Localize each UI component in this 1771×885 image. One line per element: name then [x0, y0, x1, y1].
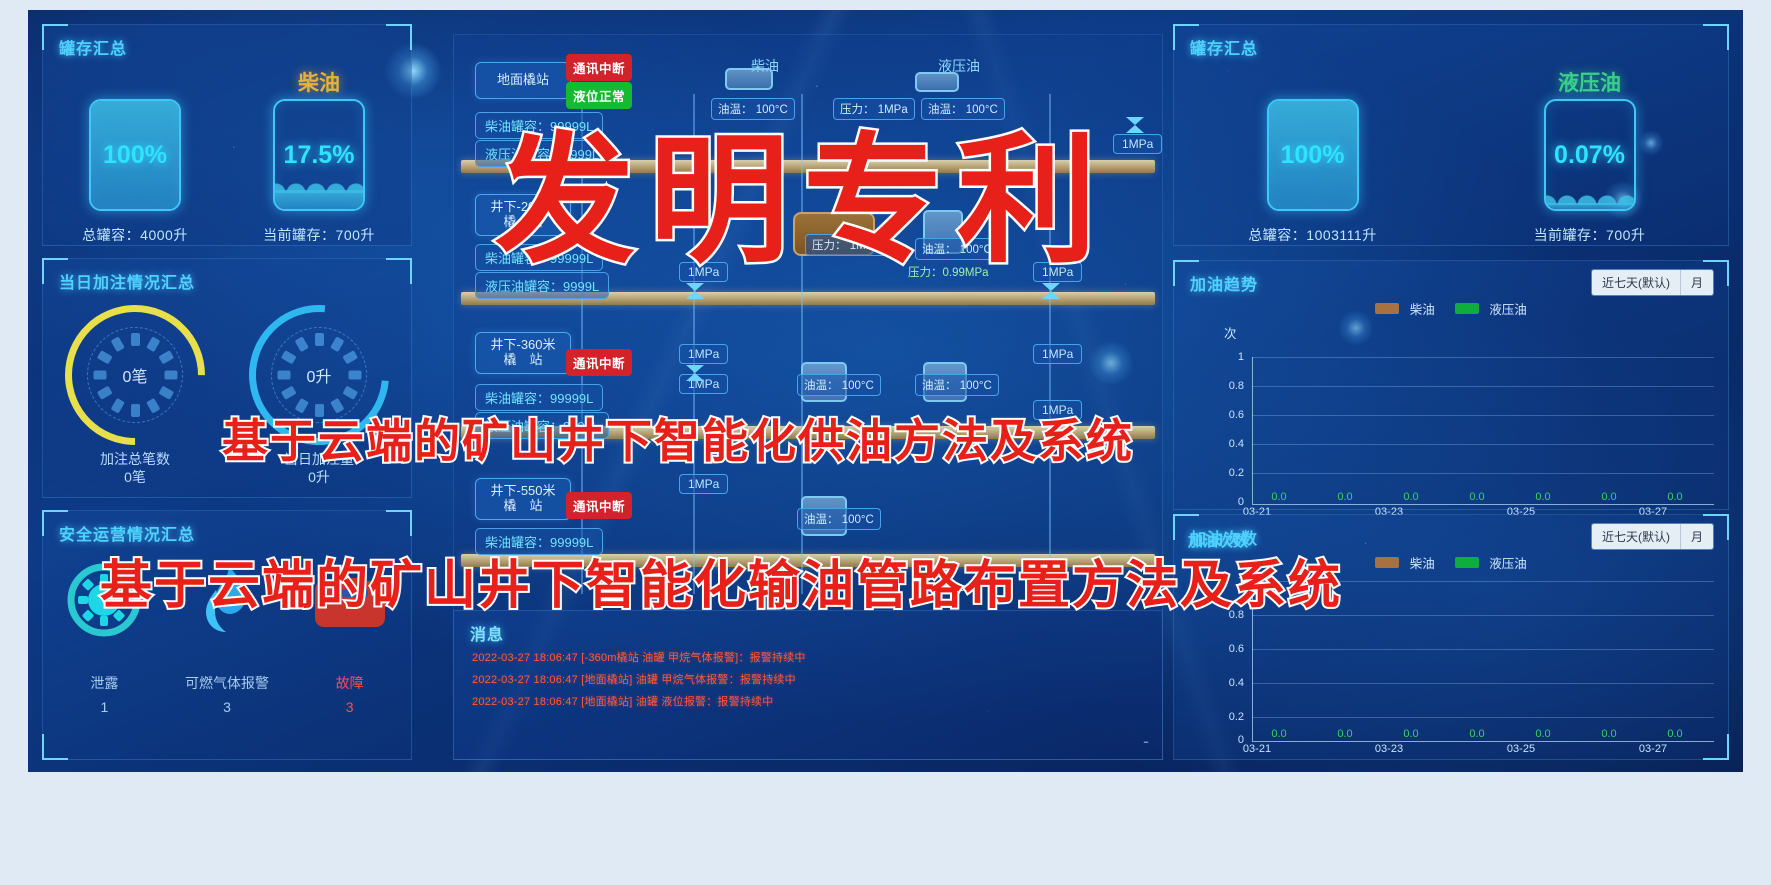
data-label: 0.0 — [1332, 491, 1358, 503]
grid-line — [1252, 717, 1714, 718]
ring-gauge-yellow: 0笔 — [65, 305, 205, 445]
gauge-value: 0笔 — [65, 305, 205, 445]
data-label: 0.0 — [1596, 491, 1622, 503]
tank-total-capacity: 100% 总罐容：4000升 — [43, 67, 227, 245]
x-tick-label: 03-21 — [1234, 743, 1280, 755]
corner-decor — [386, 510, 412, 536]
tank-current-caption: 当前罐存：700升 — [263, 225, 375, 245]
safety-label: 泄露 — [90, 673, 118, 693]
tank-current-value: 0.07% — [1546, 101, 1634, 209]
panel-title: 安全运营情况汇总 — [59, 521, 195, 545]
tank-gauges-row: 100% 总罐容：1003111升 液压油 0.07% 当前罐存：700升 — [1174, 67, 1728, 245]
tank-visual-current: 17.5% — [273, 99, 365, 211]
station-label-line2: 橇 站 — [486, 499, 560, 514]
data-label: 0.0 — [1266, 728, 1292, 740]
y-tick-label: 0.4 — [1218, 677, 1244, 689]
grid-line — [1252, 357, 1714, 358]
y-tick-label: 1 — [1218, 351, 1244, 363]
safety-count: 1 — [100, 699, 108, 715]
pressure-tag: 1MPa — [679, 344, 728, 364]
data-label: 0.0 — [1464, 491, 1490, 503]
tank-total-caption: 总罐容：4000升 — [82, 225, 188, 245]
data-label: 0.0 — [1398, 728, 1424, 740]
tank-current-value: 17.5% — [275, 101, 363, 209]
data-label: 0.0 — [1332, 728, 1358, 740]
chart-plot-area: 次 1 0.8 0.6 0.4 0.2 0 0.0 0.0 0.0 0.0 0.… — [1174, 261, 1730, 511]
panel-right-tank-summary: 罐存汇总 100% 总罐容：1003111升 液压油 0.07% 当前罐存：70… — [1173, 24, 1729, 246]
overlay-patent-badge: 发明专利 — [495, 88, 1111, 290]
safety-label: 可燃气体报警 — [185, 673, 269, 693]
tank-current-stock: 液压油 0.07% 当前罐存：700升 — [1451, 67, 1728, 245]
tank-head-spacer — [132, 67, 138, 93]
panel-title: 消息 — [470, 621, 504, 645]
grid-line — [1252, 683, 1714, 684]
grid-line — [1252, 415, 1714, 416]
data-label: 0.0 — [1596, 728, 1622, 740]
gauge-total-count: 0笔 加注总笔数 0笔 — [43, 305, 227, 486]
tank-head-spacer — [1310, 67, 1316, 93]
valve-icon[interactable] — [1125, 116, 1145, 139]
x-tick-label: 03-27 — [1630, 743, 1676, 755]
tank-icon-surface-diesel — [725, 68, 773, 90]
data-label: 0.0 — [1464, 728, 1490, 740]
tank-total-capacity: 100% 总罐容：1003111升 — [1174, 67, 1451, 245]
panel-title: 当日加注情况汇总 — [59, 269, 195, 293]
safety-label: 故障 — [336, 673, 364, 693]
safety-count: 3 — [346, 699, 354, 715]
gauge-caption-line1: 加注总笔数 — [100, 451, 170, 469]
tank-current-stock: 柴油 17.5% 当前罐存：700升 — [227, 67, 411, 245]
product-name-hydraulic: 液压油 — [1558, 67, 1621, 93]
y-axis-title: 次 — [1224, 323, 1237, 342]
panel-messages: 消息 2022-03-27 18:06:47 [-360m橇站 油罐 甲烷气体报… — [453, 610, 1163, 760]
station-label-line1: 井下-360米 — [486, 338, 560, 353]
tank-total-value: 100% — [91, 101, 179, 209]
data-label: 0.0 — [1530, 491, 1556, 503]
meter-tag-oil-temp: 油温： 100°C — [797, 508, 881, 530]
grid-line — [1252, 473, 1714, 474]
message-item[interactable]: 2022-03-27 18:06:47 [-360m橇站 油罐 甲烷气体报警]：… — [472, 647, 1148, 669]
data-label: 0.0 — [1662, 491, 1688, 503]
y-tick-label: 0.2 — [1218, 711, 1244, 723]
tank-total-caption: 总罐容：1003111升 — [1248, 225, 1376, 245]
pressure-tag: 1MPa — [1033, 344, 1082, 364]
corner-decor — [386, 258, 412, 284]
message-item[interactable]: 2022-03-27 18:06:47 [地面橇站] 油罐 液位报警：报警持续中 — [472, 691, 1148, 713]
pressure-tag: 1MPa — [679, 474, 728, 494]
y-tick-label: 0.6 — [1218, 643, 1244, 655]
y-tick-label: 0.2 — [1218, 467, 1244, 479]
corner-decor — [42, 734, 68, 760]
meter-tag-oil-temp: 油温： 100°C — [915, 374, 999, 396]
station-label-550m[interactable]: 井下-550米 橇 站 — [475, 478, 571, 520]
message-list: 2022-03-27 18:06:47 [-360m橇站 油罐 甲烷气体报警]：… — [472, 647, 1148, 713]
data-label: 0.0 — [1662, 728, 1688, 740]
y-tick-label: 0.4 — [1218, 438, 1244, 450]
y-tick-label: 0.8 — [1218, 380, 1244, 392]
x-tick-label: 03-25 — [1498, 743, 1544, 755]
valve-icon[interactable] — [685, 364, 705, 387]
tank-current-caption: 当前罐存：700升 — [1534, 225, 1646, 245]
corner-decor — [386, 24, 412, 50]
x-tick-label: 03-23 — [1366, 743, 1412, 755]
gauge-caption-line2: 0笔 — [100, 469, 170, 487]
station-label-line1: 井下-550米 — [486, 484, 560, 499]
panel-left-tank-summary: 罐存汇总 100% 总罐容：4000升 柴油 17.5% 当前罐存：700升 — [42, 24, 412, 246]
grid-line — [1252, 444, 1714, 445]
safety-count: 3 — [223, 699, 231, 715]
gauge-caption-line2: 0升 — [284, 469, 354, 487]
gauge-caption: 加注总笔数 0笔 — [100, 451, 170, 486]
corner-decor — [1703, 24, 1729, 50]
y-tick-label: 0.6 — [1218, 409, 1244, 421]
panel-title: 罐存汇总 — [1190, 35, 1258, 59]
tank-gauges-row: 100% 总罐容：4000升 柴油 17.5% 当前罐存：700升 — [43, 67, 411, 245]
station-label-360m[interactable]: 井下-360米 橇 站 — [475, 332, 571, 374]
x-axis-line — [1252, 504, 1714, 505]
message-item[interactable]: 2022-03-27 18:06:47 [地面橇站] 油罐 甲烷气体报警：报警持… — [472, 669, 1148, 691]
tank-total-value: 100% — [1269, 101, 1357, 209]
tank-visual-total: 100% — [1267, 99, 1359, 211]
panel-refuel-trend-chart: 加油趋势 近七天(默认) 月 柴油 液压油 次 1 0.8 0.6 0.4 0.… — [1173, 260, 1729, 510]
data-label: 0.0 — [1530, 728, 1556, 740]
meter-tag-oil-temp: 油温： 100°C — [797, 374, 881, 396]
grid-line — [1252, 649, 1714, 650]
status-badge-comm-fault: 通讯中断 — [566, 54, 632, 81]
panel-title: 罐存汇总 — [59, 35, 127, 59]
tank-visual-total: 100% — [89, 99, 181, 211]
tank-visual-current: 0.07% — [1544, 99, 1636, 211]
product-name-diesel: 柴油 — [298, 67, 340, 93]
status-badge-comm-fault: 通讯中断 — [566, 492, 632, 519]
data-label: 0.0 — [1398, 491, 1424, 503]
grid-line — [1252, 386, 1714, 387]
y-axis-line — [1252, 357, 1253, 504]
station-label-line2: 橇 站 — [486, 353, 560, 368]
overlay-title-line1: 基于云端的矿山井下智能化供油方法及系统 — [222, 405, 1134, 471]
overlay-title-line2: 基于云端的矿山井下智能化输油管路布置方法及系统 — [100, 543, 1342, 618]
x-axis-line — [1252, 741, 1714, 742]
data-label: 0.0 — [1266, 491, 1292, 503]
status-badge-comm-fault: 通讯中断 — [566, 349, 632, 376]
